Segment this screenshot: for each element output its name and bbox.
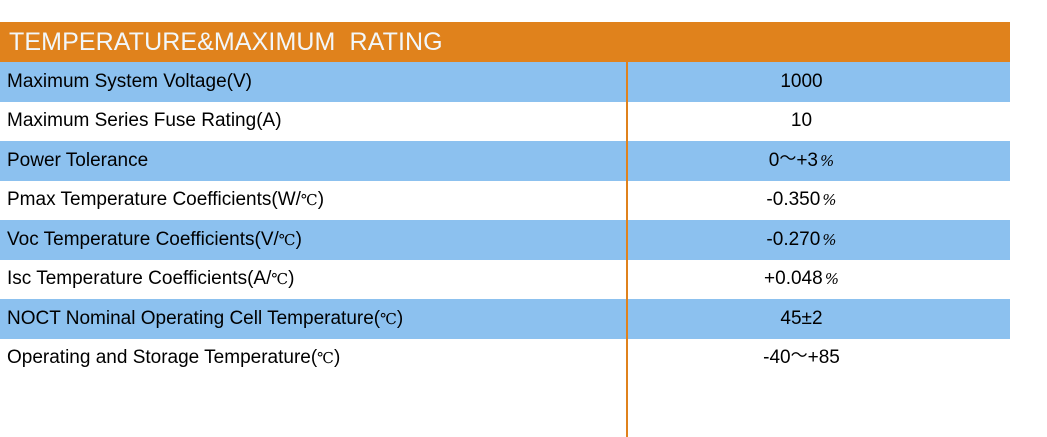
row-label: Voc Temperature Coefficients(V/℃) [0,229,627,251]
row-value-number: 45±2 [780,308,822,329]
table-header-bar: TEMPERATURE&MAXIMUM RATING [0,22,1010,62]
row-value-number: 0〜+3 [769,150,818,171]
celsius-icon: ℃ [380,310,397,328]
row-value-number: -0.270 [766,229,820,250]
row-value: 10 [627,110,1010,132]
row-value-unit: % [823,270,839,288]
table-row: Operating and Storage Temperature(℃)-40〜… [0,339,1010,379]
row-label: Pmax Temperature Coefficients(W/℃) [0,189,627,211]
row-value-number: -40〜+85 [763,347,840,368]
row-value: 1000 [627,71,1010,93]
row-value: 0〜+3% [627,150,1010,172]
column-divider [626,62,628,437]
wave-dash-icon: 〜 [791,346,808,366]
table-body: Maximum System Voltage(V)1000Maximum Ser… [0,62,1010,378]
table-row: Maximum Series Fuse Rating(A)10 [0,102,1010,142]
row-label: NOCT Nominal Operating Cell Temperature(… [0,308,627,330]
row-value-number: 1000 [780,71,822,92]
row-value-number: +0.048 [764,268,823,289]
row-value-unit: % [820,231,836,249]
row-value: -40〜+85 [627,347,1010,369]
table-row: Pmax Temperature Coefficients(W/℃)-0.350… [0,181,1010,221]
table-row: Maximum System Voltage(V)1000 [0,62,1010,102]
wave-dash-icon: 〜 [779,149,796,169]
row-value-unit: % [820,191,836,209]
table-title: TEMPERATURE&MAXIMUM RATING [9,30,443,55]
row-value: -0.350% [627,189,1010,211]
row-label: Maximum Series Fuse Rating(A) [0,110,627,132]
celsius-icon: ℃ [301,191,318,209]
row-value: +0.048% [627,268,1010,290]
table-row: Isc Temperature Coefficients(A/℃)+0.048% [0,260,1010,300]
table-row: Voc Temperature Coefficients(V/℃)-0.270% [0,220,1010,260]
celsius-icon: ℃ [279,231,296,249]
row-label: Isc Temperature Coefficients(A/℃) [0,268,627,290]
row-value-number: 10 [791,110,812,131]
table-row: NOCT Nominal Operating Cell Temperature(… [0,299,1010,339]
row-label: Maximum System Voltage(V) [0,71,627,93]
row-value: 45±2 [627,308,1010,330]
row-label: Operating and Storage Temperature(℃) [0,347,627,369]
row-value-unit: % [818,152,834,170]
row-label: Power Tolerance [0,150,627,172]
table-rows: Maximum System Voltage(V)1000Maximum Ser… [0,62,1010,378]
table-row: Power Tolerance0〜+3% [0,141,1010,181]
row-value-number: -0.350 [766,189,820,210]
celsius-icon: ℃ [271,270,288,288]
celsius-icon: ℃ [317,349,334,367]
specification-table: TEMPERATURE&MAXIMUM RATING Maximum Syste… [0,22,1010,378]
row-value: -0.270% [627,229,1010,251]
